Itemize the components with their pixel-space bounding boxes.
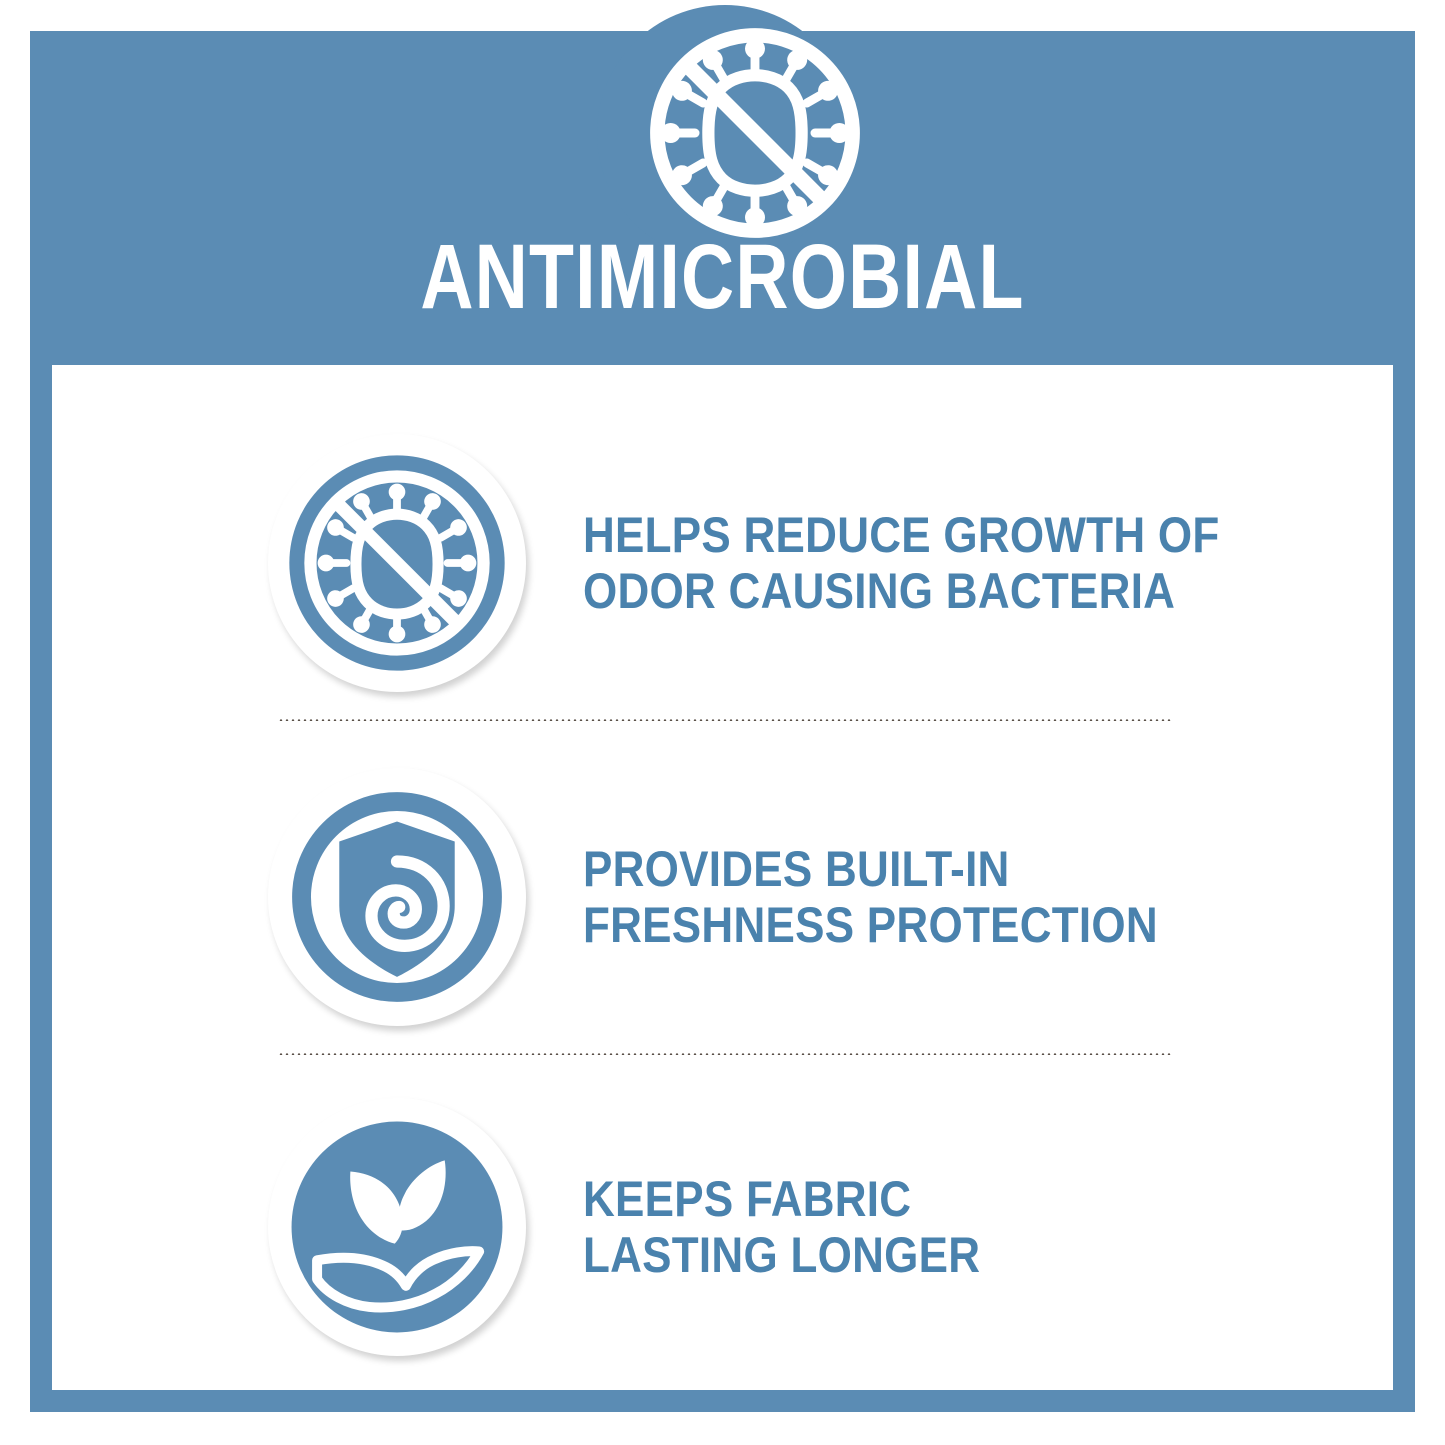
page-title: ANTIMICROBIAL	[169, 231, 1277, 323]
feature-row: PROVIDES BUILT-IN FRESHNESS PROTECTION	[52, 747, 1393, 1047]
no-bacteria-icon	[644, 22, 866, 244]
divider	[278, 1052, 1172, 1055]
header: ANTIMICROBIAL	[30, 31, 1415, 365]
antimicrobial-infographic: ANTIMICROBIAL	[0, 0, 1445, 1445]
divider	[278, 718, 1172, 721]
feature-row: HELPS REDUCE GROWTH OF ODOR CAUSING BACT…	[52, 413, 1393, 713]
feature-line-1: KEEPS FABRIC	[583, 1171, 980, 1227]
feature-row: KEEPS FABRIC LASTING LONGER	[52, 1077, 1393, 1377]
feature-line-2: FRESHNESS PROTECTION	[583, 897, 1158, 953]
feature-line-2: ODOR CAUSING BACTERIA	[583, 563, 1219, 619]
feature-list: HELPS REDUCE GROWTH OF ODOR CAUSING BACT…	[52, 365, 1393, 1390]
feature-line-1: PROVIDES BUILT-IN	[583, 841, 1158, 897]
feature-text: KEEPS FABRIC LASTING LONGER	[583, 1171, 980, 1283]
feature-text: PROVIDES BUILT-IN FRESHNESS PROTECTION	[583, 841, 1158, 953]
feature-line-2: LASTING LONGER	[583, 1227, 980, 1283]
no-bacteria-icon	[268, 434, 526, 692]
feature-line-1: HELPS REDUCE GROWTH OF	[583, 507, 1219, 563]
feature-text: HELPS REDUCE GROWTH OF ODOR CAUSING BACT…	[583, 507, 1219, 619]
shield-swirl-icon	[268, 768, 526, 1026]
sprout-leaf-icon	[268, 1098, 526, 1356]
